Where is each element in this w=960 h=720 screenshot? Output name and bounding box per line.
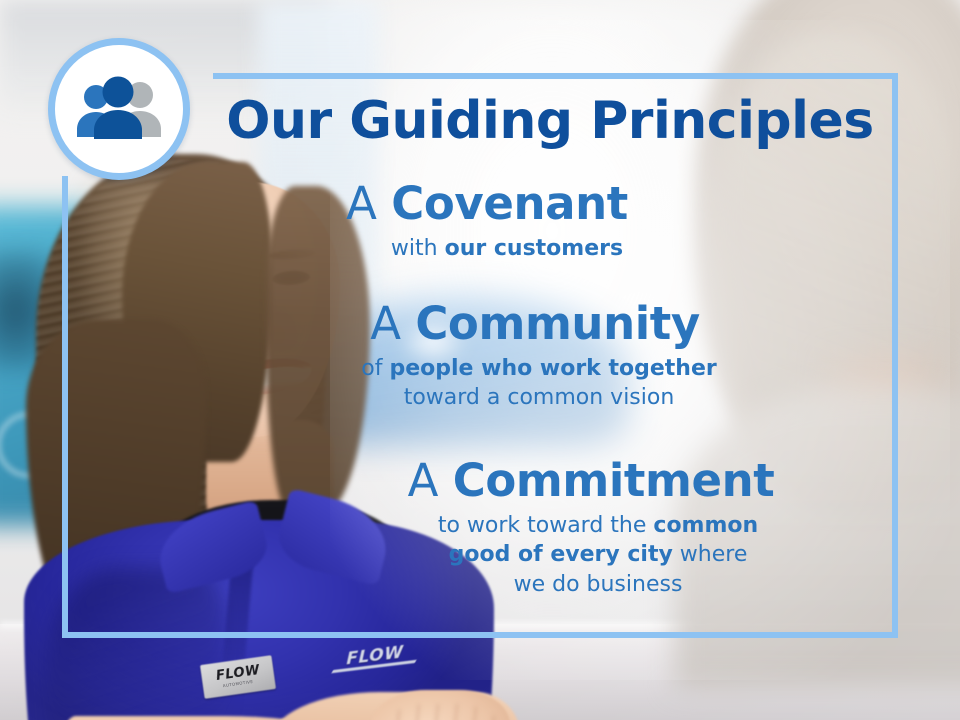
subtext-emphasis: our customers [445,236,624,261]
principle-keyword: Community [415,297,699,350]
principle-subtext-line: to work toward the common [298,511,898,540]
principle-subtext-line: we do business [298,570,898,599]
principle-heading: A Commitment [62,458,898,505]
text-content: Our Guiding Principles A Covenant with o… [62,73,898,638]
principle-keyword: Covenant [391,177,628,230]
principle-subtext: with our customers [62,234,898,263]
subtext-plain: toward a common vision [404,385,675,410]
principle-heading: A Covenant [62,181,898,228]
principle-subtext-line: toward a common vision [180,383,898,412]
principle-subtext-line: of people who work together [180,354,898,383]
page-title: Our Guiding Principles [62,95,898,147]
principle-commitment: A Commitment to work toward the commongo… [62,458,898,599]
principle-article: A [408,454,439,507]
principle-heading: A Community [62,301,898,348]
principle-subtext: of people who work togethertoward a comm… [62,354,898,413]
guiding-principles-banner: FLOW AUTOMOTIVE FLOW [0,0,960,720]
subtext-plain: of [361,356,389,381]
principle-covenant: A Covenant with our customers [62,181,898,263]
subtext-emphasis: common [653,513,758,538]
principle-subtext-line: with our customers [116,234,898,263]
principle-article: A [346,177,377,230]
subtext-plain: where [673,542,748,567]
subtext-emphasis: people who work together [389,356,716,381]
subtext-plain: to work toward the [438,513,654,538]
principle-subtext-line: good of every city where [298,540,898,569]
subtext-emphasis: good of every city [449,542,673,567]
principle-community: A Community of people who work togethert… [62,301,898,413]
subtext-plain: with [391,236,445,261]
principle-subtext: to work toward the commongood of every c… [62,511,898,599]
subtext-plain: we do business [514,572,683,597]
principle-keyword: Commitment [453,454,775,507]
principle-article: A [370,297,401,350]
